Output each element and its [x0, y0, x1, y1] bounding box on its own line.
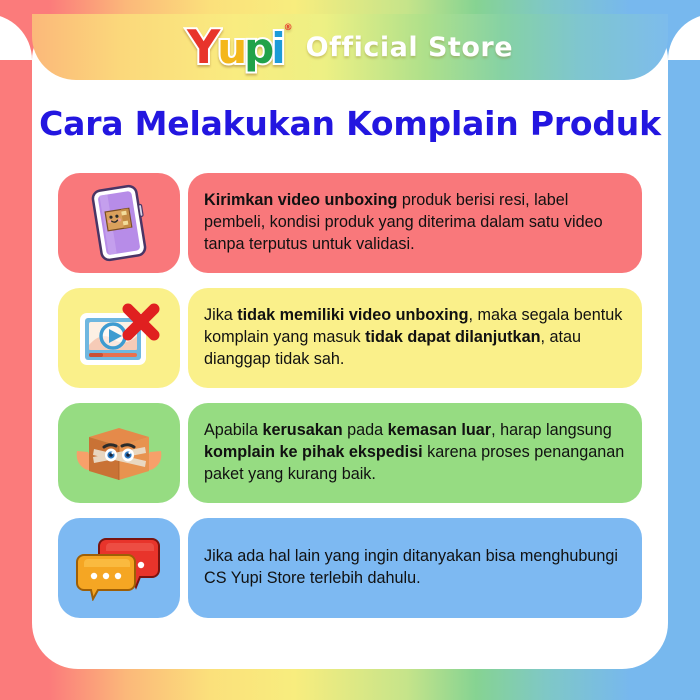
text-panel-1: Kirimkan video unboxing produk berisi re…: [188, 173, 642, 273]
icon-tile-2: [58, 288, 180, 388]
chat-bubbles-icon: [76, 535, 162, 601]
info-row-4: Jika ada hal lain yang ingin ditanyakan …: [58, 518, 642, 618]
info-row-1: Kirimkan video unboxing produk berisi re…: [58, 173, 642, 273]
video-player-blocked-icon: [76, 301, 162, 375]
trademark-symbol: ®: [284, 24, 290, 33]
row-3-text: Apabila kerusakan pada kemasan luar, har…: [204, 420, 626, 485]
text-panel-4: Jika ada hal lain yang ingin ditanyakan …: [188, 518, 642, 618]
damaged-box-icon: [73, 417, 165, 489]
page-title: Cara Melakukan Komplain Produk: [32, 104, 668, 143]
icon-tile-3: [58, 403, 180, 503]
text-panel-3: Apabila kerusakan pada kemasan luar, har…: [188, 403, 642, 503]
text-panel-2: Jika tidak memiliki video unboxing, maka…: [188, 288, 642, 388]
info-row-3: Apabila kerusakan pada kemasan luar, har…: [58, 403, 642, 503]
logo-letter-y: Y: [187, 24, 217, 70]
logo-letter-u: u: [217, 28, 244, 70]
logo-letter-p: p: [244, 28, 271, 70]
official-store-label: Official Store: [306, 32, 513, 63]
poster-canvas: Yupi® Official Store Cara Melakukan Komp…: [0, 0, 700, 700]
row-2-text: Jika tidak memiliki video unboxing, maka…: [204, 305, 626, 370]
icon-tile-4: [58, 518, 180, 618]
row-4-text: Jika ada hal lain yang ingin ditanyakan …: [204, 546, 626, 589]
icon-tile-1: [58, 173, 180, 273]
yupi-logo: Yupi®: [187, 24, 290, 70]
smartphone-package-icon: [87, 184, 151, 262]
logo-letter-i: i: [271, 28, 282, 70]
info-row-2: Jika tidak memiliki video unboxing, maka…: [58, 288, 642, 388]
header-brand-bar: Yupi® Official Store: [32, 14, 668, 80]
row-1-text: Kirimkan video unboxing produk berisi re…: [204, 190, 626, 255]
